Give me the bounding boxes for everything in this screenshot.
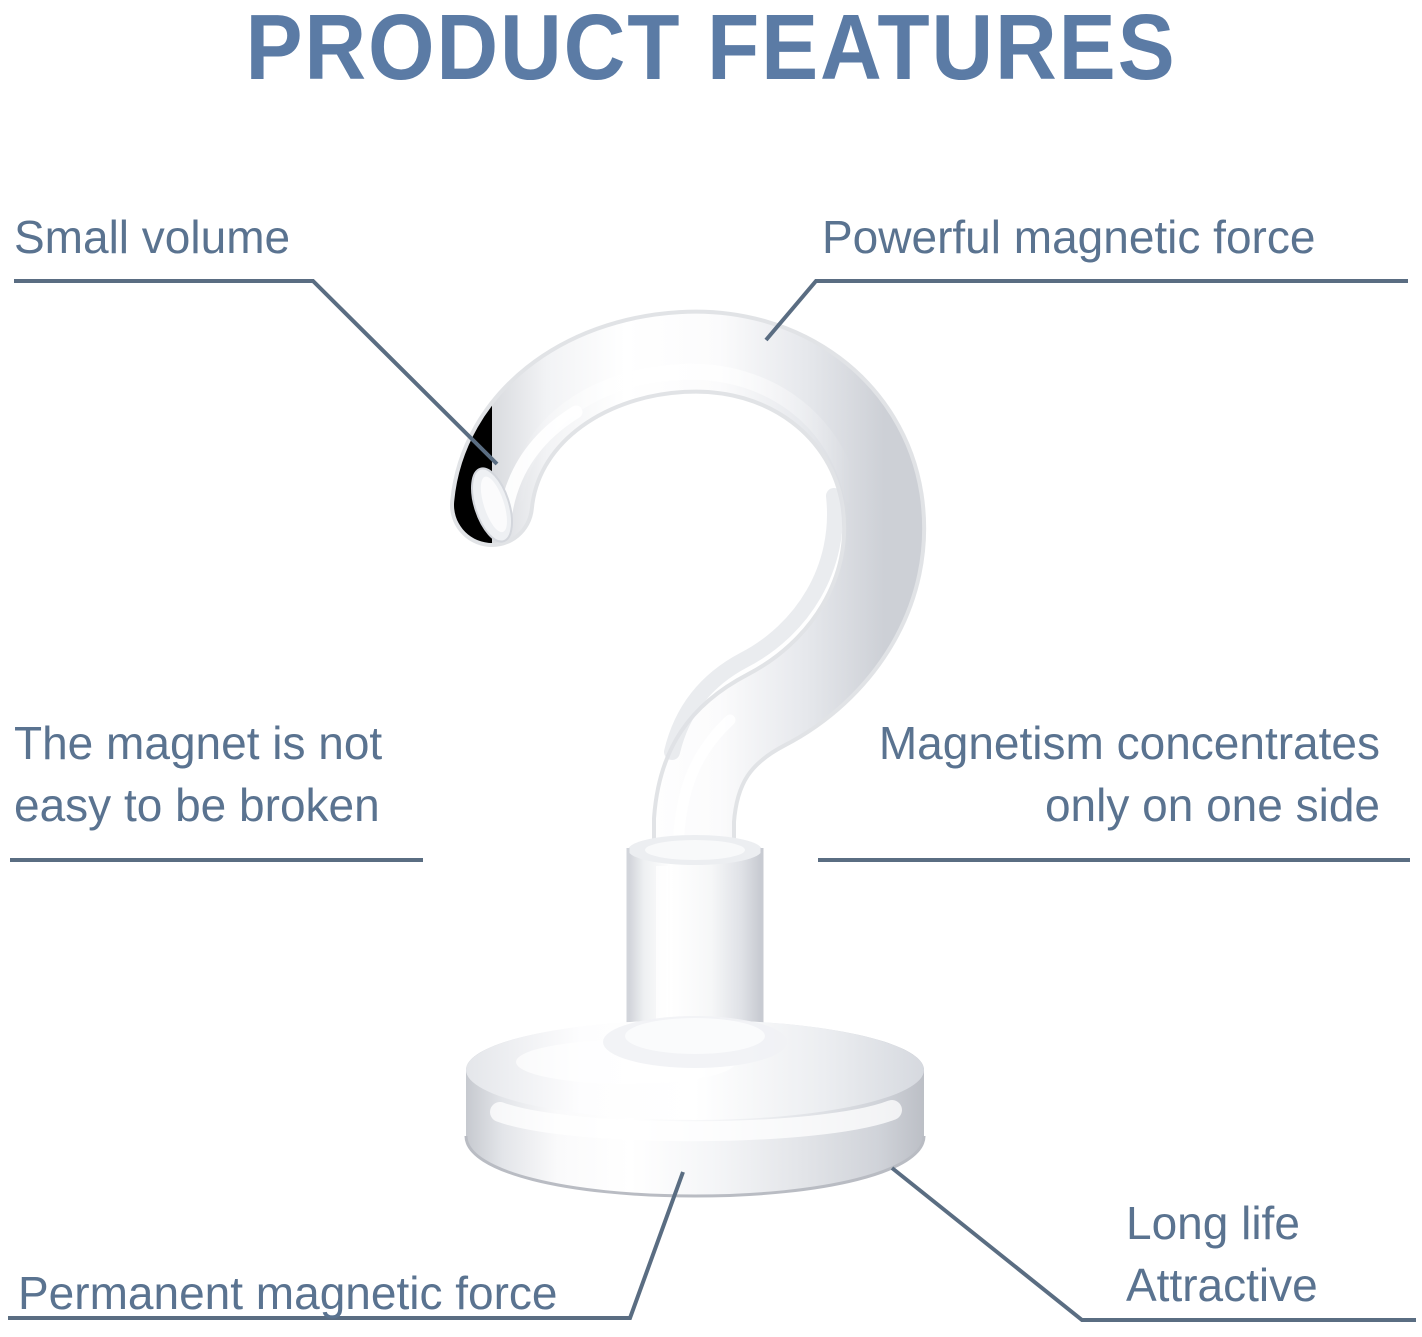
magnet-base bbox=[466, 1016, 924, 1196]
feature-label-magnet-not-easy-broken: The magnet is not easy to be broken bbox=[14, 712, 382, 836]
feature-label-long-life-attractive: Long life Attractive bbox=[1126, 1192, 1318, 1316]
product-features-infographic: PRODUCT FEATURES bbox=[0, 0, 1422, 1337]
feature-label-powerful-magnetic-force: Powerful magnetic force bbox=[822, 206, 1315, 268]
page-title: PRODUCT FEATURES bbox=[57, 0, 1365, 101]
leader-small-volume bbox=[14, 281, 497, 464]
feature-label-magnetism-concentrates: Magnetism concentrates only on one side bbox=[818, 712, 1380, 836]
magnet-collar bbox=[628, 835, 762, 1026]
feature-label-permanent-magnetic-force: Permanent magnetic force bbox=[18, 1262, 558, 1324]
feature-label-small-volume: Small volume bbox=[14, 206, 290, 268]
